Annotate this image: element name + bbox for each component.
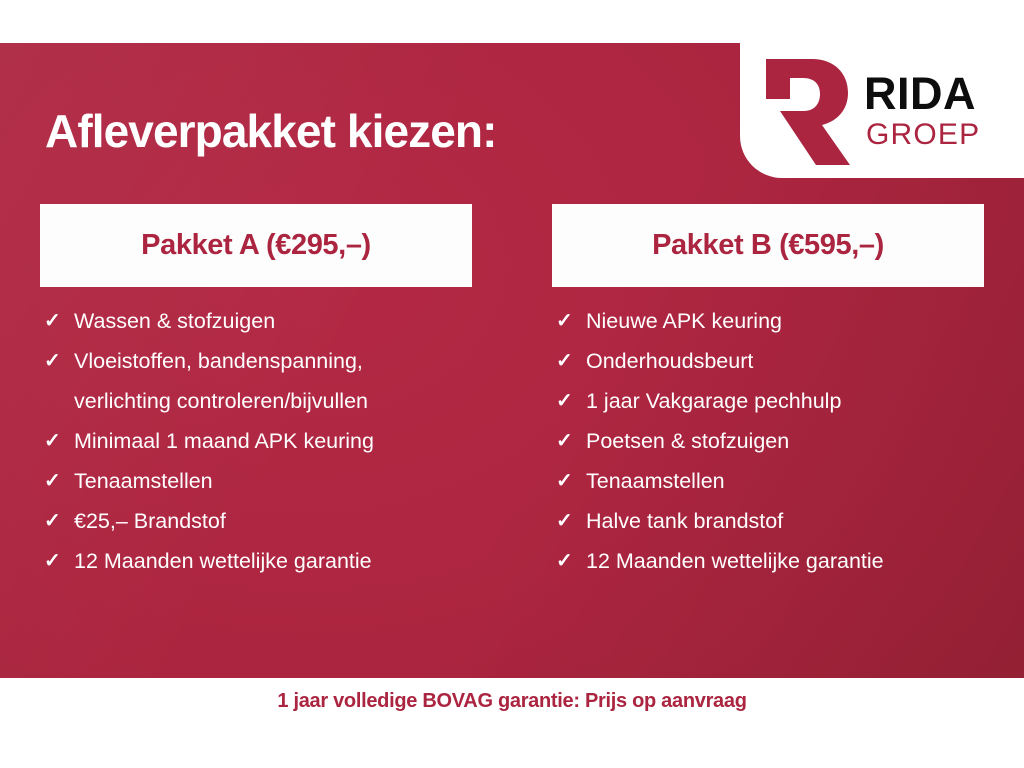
- list-item-label: €25,– Brandstof: [74, 501, 226, 541]
- list-item-label: Nieuwe APK keuring: [586, 301, 782, 341]
- package-b-title: Pakket B (€595,–): [652, 229, 884, 262]
- check-icon: ✓: [556, 381, 586, 421]
- list-item-label: Poetsen & stofzuigen: [586, 421, 789, 461]
- list-item: ✓ Tenaamstellen: [44, 461, 472, 501]
- package-a-header: Pakket A (€295,–): [40, 204, 472, 287]
- brand-wordmark: RIDA GROEP: [864, 71, 980, 150]
- package-b-feature-list: ✓ Nieuwe APK keuring ✓ Onderhoudsbeurt ✓…: [552, 287, 984, 581]
- check-icon: ✓: [44, 301, 74, 341]
- list-item-label: Tenaamstellen: [74, 461, 213, 501]
- check-icon: ✓: [556, 341, 586, 381]
- footer-banner: 1 jaar volledige BOVAG garantie: Prijs o…: [0, 678, 1024, 768]
- list-item: ✓ €25,– Brandstof: [44, 501, 472, 541]
- check-icon: ✓: [556, 301, 586, 341]
- list-item-label: 12 Maanden wettelijke garantie: [586, 541, 884, 581]
- brand-subtitle: GROEP: [866, 120, 980, 150]
- package-b-header: Pakket B (€595,–): [552, 204, 984, 287]
- list-item-label: 1 jaar Vakgarage pechhulp: [586, 381, 841, 421]
- list-item: ✓ 12 Maanden wettelijke garantie: [44, 541, 472, 581]
- list-item: ✓ Vloeistoffen, bandenspanning, verlicht…: [44, 341, 472, 421]
- list-item: ✓ Halve tank brandstof: [556, 501, 984, 541]
- check-icon: ✓: [44, 341, 74, 381]
- list-item: ✓ Onderhoudsbeurt: [556, 341, 984, 381]
- check-icon: ✓: [44, 501, 74, 541]
- package-column-b: Pakket B (€595,–) ✓ Nieuwe APK keuring ✓…: [552, 204, 984, 581]
- list-item: ✓ Minimaal 1 maand APK keuring: [44, 421, 472, 461]
- list-item-label: Minimaal 1 maand APK keuring: [74, 421, 374, 461]
- list-item: ✓ Poetsen & stofzuigen: [556, 421, 984, 461]
- check-icon: ✓: [556, 421, 586, 461]
- list-item: ✓ Nieuwe APK keuring: [556, 301, 984, 341]
- check-icon: ✓: [44, 461, 74, 501]
- check-icon: ✓: [44, 541, 74, 581]
- package-a-feature-list: ✓ Wassen & stofzuigen ✓ Vloeistoffen, ba…: [40, 287, 472, 581]
- brand-logo-panel: RIDA GROEP: [740, 43, 1024, 178]
- check-icon: ✓: [556, 461, 586, 501]
- list-item: ✓ Wassen & stofzuigen: [44, 301, 472, 341]
- slide-root: Afleverpakket kiezen: RIDA GROEP Pakket …: [0, 0, 1024, 768]
- rida-r-mark-icon: [756, 53, 852, 165]
- list-item: ✓ Tenaamstellen: [556, 461, 984, 501]
- list-item: ✓ 12 Maanden wettelijke garantie: [556, 541, 984, 581]
- list-item: ✓ 1 jaar Vakgarage pechhulp: [556, 381, 984, 421]
- list-item-label: Halve tank brandstof: [586, 501, 783, 541]
- check-icon: ✓: [556, 501, 586, 541]
- package-column-a: Pakket A (€295,–) ✓ Wassen & stofzuigen …: [40, 204, 472, 581]
- package-a-title: Pakket A (€295,–): [141, 229, 371, 262]
- list-item-label: Onderhoudsbeurt: [586, 341, 753, 381]
- footer-text: 1 jaar volledige BOVAG garantie: Prijs o…: [0, 690, 1024, 713]
- check-icon: ✓: [556, 541, 586, 581]
- brand-name: RIDA: [864, 71, 980, 116]
- list-item-label: 12 Maanden wettelijke garantie: [74, 541, 372, 581]
- list-item-label: Vloeistoffen, bandenspanning, verlichtin…: [74, 341, 368, 421]
- list-item-label: Wassen & stofzuigen: [74, 301, 275, 341]
- list-item-label: Tenaamstellen: [586, 461, 725, 501]
- check-icon: ✓: [44, 421, 74, 461]
